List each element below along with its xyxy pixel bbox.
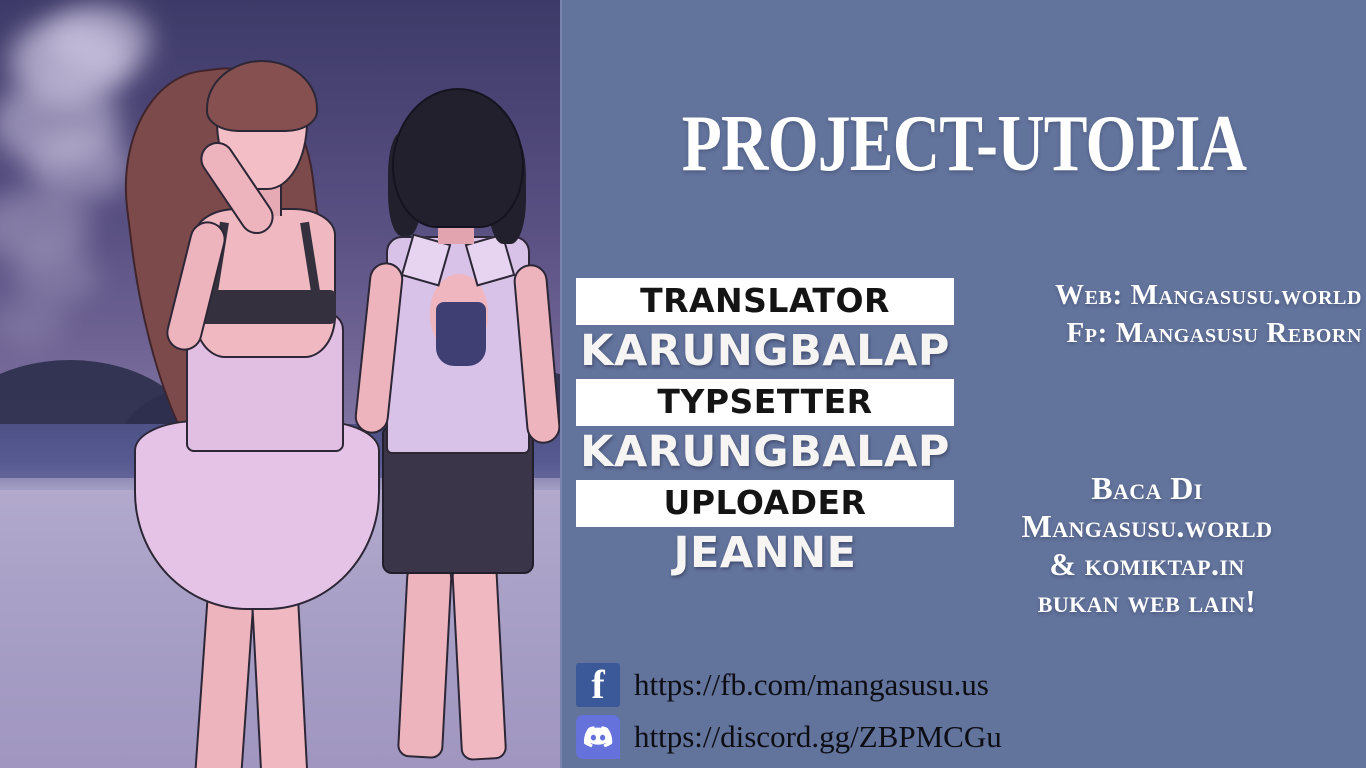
discord-icon[interactable] <box>576 715 620 759</box>
figure-woman-right <box>330 88 562 768</box>
discord-url[interactable]: https://discord.gg/ZBPMCGu <box>634 719 1002 755</box>
fanpage-line: Fp: Mangasusu Reborn <box>892 314 1362 352</box>
info-panel: PROJECT-UTOPIA TRANSLATOR KARUNGBALAP TY… <box>562 0 1366 768</box>
baca-line-3: & komiktap.in <box>942 546 1352 584</box>
role-label-uploader: UPLOADER <box>576 480 954 527</box>
social-row-discord[interactable]: https://discord.gg/ZBPMCGu <box>576 712 1096 762</box>
baca-line-2: Mangasusu.world <box>942 508 1352 546</box>
credits-page: PROJECT-UTOPIA TRANSLATOR KARUNGBALAP TY… <box>0 0 1366 768</box>
person-name-typesetter: KARUNGBALAP <box>570 428 960 476</box>
cloud-shape <box>14 246 98 304</box>
read-here-notice: Baca Di Mangasusu.world & komiktap.in bu… <box>942 470 1352 621</box>
role-label-typesetter: TYPSETTER <box>576 379 954 426</box>
facebook-icon[interactable]: f <box>576 663 620 707</box>
leg-left <box>397 557 453 759</box>
credit-entry-uploader: UPLOADER JEANNE <box>570 480 960 577</box>
social-row-facebook[interactable]: f https://fb.com/mangasusu.us <box>576 660 1096 710</box>
facebook-f-glyph: f <box>576 663 620 707</box>
credit-entry-typesetter: TYPSETTER KARUNGBALAP <box>570 379 960 476</box>
person-name-uploader: JEANNE <box>570 529 960 577</box>
bra-top <box>436 302 486 366</box>
web-line: Web: Mangasusu.world <box>892 276 1362 314</box>
manhwa-artwork <box>0 0 562 768</box>
baca-line-1: Baca Di <box>942 470 1352 508</box>
baca-line-4: bukan web lain! <box>942 583 1352 621</box>
leg-right <box>451 555 508 761</box>
website-info: Web: Mangasusu.world Fp: Mangasusu Rebor… <box>892 276 1362 353</box>
facebook-url[interactable]: https://fb.com/mangasusu.us <box>634 667 989 703</box>
page-title: PROJECT-UTOPIA <box>634 104 1293 184</box>
cloud-shape <box>0 300 64 346</box>
social-links: f https://fb.com/mangasusu.us https://di… <box>576 660 1096 764</box>
hair-short-black <box>392 88 524 228</box>
